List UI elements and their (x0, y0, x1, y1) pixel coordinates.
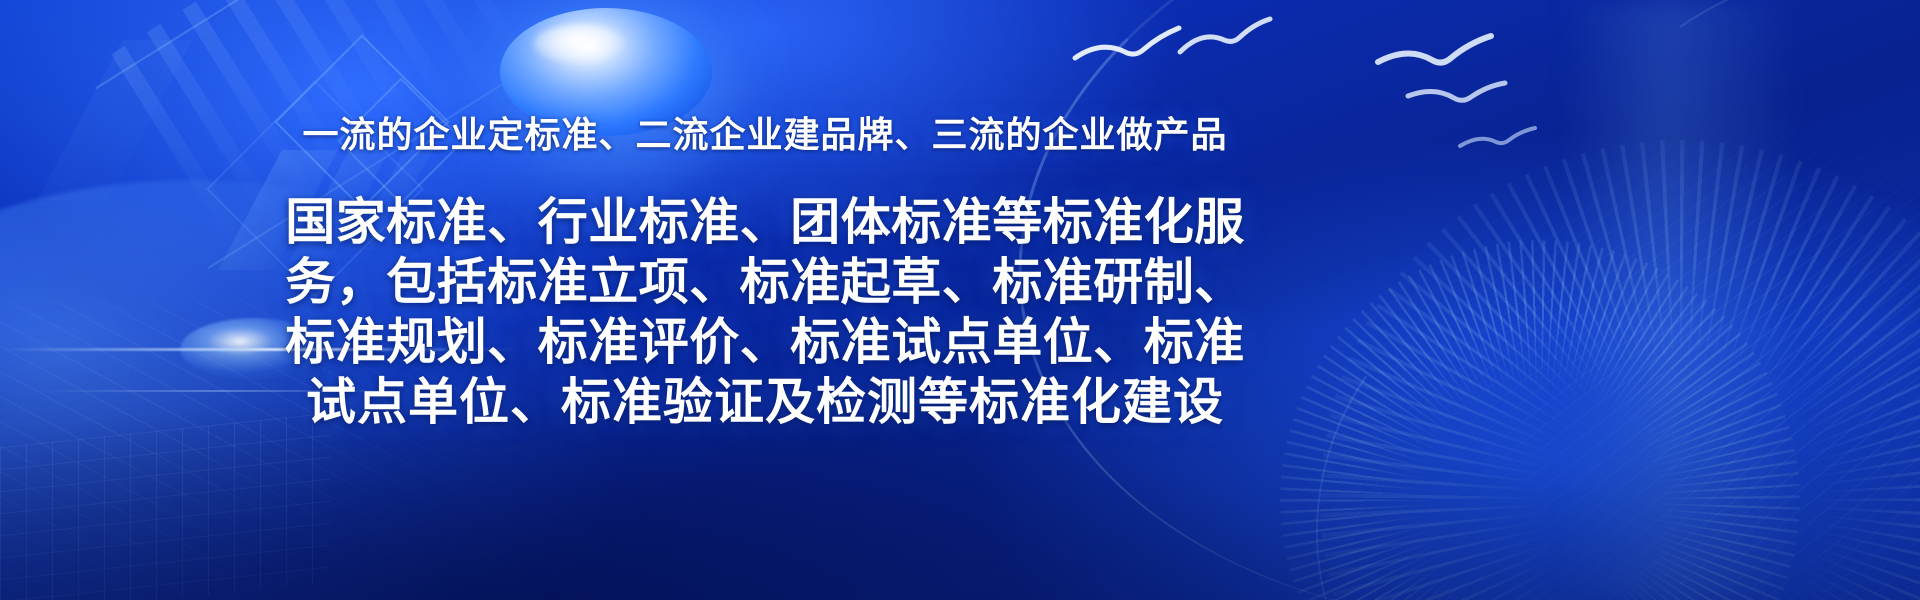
banner-text-block: 一流的企业定标准、二流企业建品牌、三流的企业做产品 国家标准、行业标准、团体标准… (0, 0, 1530, 600)
banner-body-line: 国家标准、行业标准、团体标准等标准化服 (235, 192, 1295, 252)
banner-body-line: 试点单位、标准验证及检测等标准化建设 (235, 372, 1295, 432)
tech-banner: 一流的企业定标准、二流企业建品牌、三流的企业做产品 国家标准、行业标准、团体标准… (0, 0, 1920, 600)
banner-body: 国家标准、行业标准、团体标准等标准化服 务，包括标准立项、标准起草、标准研制、 … (235, 192, 1295, 432)
banner-body-line: 务，包括标准立项、标准起草、标准研制、 (235, 252, 1295, 312)
banner-body-line: 标准规划、标准评价、标准试点单位、标准 (235, 312, 1295, 372)
banner-headline: 一流的企业定标准、二流企业建品牌、三流的企业做产品 (0, 114, 1530, 155)
